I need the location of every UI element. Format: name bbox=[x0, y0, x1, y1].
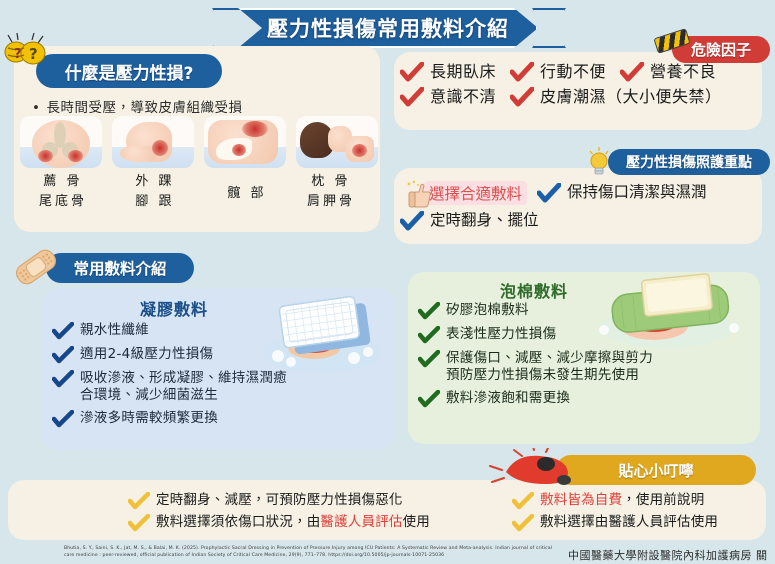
gel-item: 吸收滲液、形成凝膠、維持濕潤癒 合環境、減少細菌滋生 bbox=[52, 370, 342, 404]
thumbnail-hip bbox=[204, 116, 286, 168]
foam-item-label: 矽膠泡棉敷料 bbox=[446, 302, 529, 319]
gel-dressing-list: 親水性纖維 適用2-4級壓力性損傷 吸收滲液、形成凝膠、維持濕潤癒 合環境、減少… bbox=[52, 322, 342, 434]
check-icon bbox=[400, 211, 424, 231]
check-icon bbox=[52, 410, 74, 428]
pressure-site-thumbnails bbox=[20, 116, 378, 168]
thumbnail-occiput-scapula bbox=[296, 116, 378, 168]
site-label-2: 髖 部 bbox=[204, 184, 290, 204]
care-item: 保持傷口清潔與濕潤 bbox=[537, 183, 707, 203]
check-icon bbox=[418, 326, 440, 344]
page-title: 壓力性損傷常用敷料介紹 bbox=[238, 8, 538, 48]
check-icon bbox=[52, 370, 74, 388]
site-label-1-line2: 腳 跟 bbox=[112, 192, 198, 212]
foam-item: 表淺性壓力性損傷 bbox=[418, 326, 718, 344]
dressings-heading-text: 常用敷料介紹 bbox=[73, 257, 166, 279]
gel-item: 滲液多時需較頻繁更換 bbox=[52, 410, 342, 428]
thumbnail-sacrum bbox=[20, 116, 102, 168]
foam-item: 保護傷口、減壓、減少摩擦與剪力 預防壓力性損傷未發生期先使用 bbox=[418, 350, 718, 384]
lightbulb-icon bbox=[586, 146, 612, 178]
tip-item-label: 敷料選擇由醫護人員評估使用 bbox=[540, 514, 718, 531]
tip-item-label: 敷料選擇須依傷口狀況，由醫護人員評估使用 bbox=[156, 514, 430, 531]
check-icon bbox=[510, 87, 534, 107]
page-title-text: 壓力性損傷常用敷料介紹 bbox=[267, 13, 509, 43]
risk-item-label: 皮膚潮濕（大小便失禁） bbox=[540, 87, 722, 107]
care-row: 選擇合適敷料 保持傷口清潔與濕潤 bbox=[400, 181, 764, 205]
risk-item-label: 行動不便 bbox=[540, 62, 606, 82]
tip-text-pre: 敷料選擇須依傷口狀況，由 bbox=[156, 514, 320, 530]
care-item-label: 保持傷口清潔與濕潤 bbox=[567, 183, 707, 202]
site-label-2-line1: 髖 部 bbox=[204, 184, 290, 204]
risk-item: 長期臥床 bbox=[400, 62, 496, 82]
site-label-3-line1: 枕 骨 bbox=[288, 172, 374, 192]
tip-item: 敷料選擇由醫護人員評估使用 bbox=[512, 514, 768, 532]
site-label-1-line1: 外 踝 bbox=[112, 172, 198, 192]
check-icon bbox=[418, 390, 440, 408]
tip-item: 敷料選擇須依傷口狀況，由醫護人員評估使用 bbox=[128, 514, 508, 532]
check-icon bbox=[620, 62, 644, 82]
check-icon bbox=[400, 87, 424, 107]
site-label-3-line2: 肩胛骨 bbox=[288, 192, 374, 212]
gel-item-label: 親水性纖維 bbox=[80, 322, 149, 339]
title-banner-wing-left bbox=[212, 8, 246, 48]
tips-heading-text: 貼心小叮嚀 bbox=[618, 460, 693, 481]
tip-item: 敷料皆為自費，使用前說明 bbox=[512, 492, 768, 510]
care-points-list: 選擇合適敷料 保持傷口清潔與濕潤 定時翻身、擺位 bbox=[400, 181, 764, 231]
foam-item-label: 敷料滲液飽和需更換 bbox=[446, 390, 570, 407]
tip-text-highlight: 敷料皆為自費 bbox=[540, 492, 622, 508]
risk-factors-list: 長期臥床 行動不便 營養不良 意識不清 皮膚潮濕（大小便失禁） bbox=[400, 62, 762, 112]
care-highlight-chip: 選擇合適敷料 bbox=[424, 181, 527, 205]
check-icon bbox=[537, 183, 561, 203]
tip-item-label: 敷料皆為自費，使用前說明 bbox=[540, 492, 704, 509]
site-label-0: 薦 骨 尾底骨 bbox=[20, 172, 106, 211]
tip-item-label: 定時翻身、減壓，可預防壓力性損傷惡化 bbox=[156, 492, 403, 509]
risk-item: 營養不良 bbox=[620, 62, 716, 82]
risk-item-label: 意識不清 bbox=[430, 87, 496, 107]
site-label-3: 枕 骨 肩胛骨 bbox=[288, 172, 374, 211]
svg-text:?: ? bbox=[14, 47, 22, 62]
site-label-1: 外 踝 腳 跟 bbox=[112, 172, 198, 211]
gel-item-label: 滲液多時需較頻繁更換 bbox=[80, 410, 218, 427]
dressings-heading: 常用敷料介紹 bbox=[46, 253, 194, 283]
site-label-0-line1: 薦 骨 bbox=[20, 172, 106, 192]
bee-question-icon: ? ? bbox=[2, 32, 48, 72]
foam-item-label: 保護傷口、減壓、減少摩擦與剪力 預防壓力性損傷未發生期先使用 bbox=[446, 350, 653, 384]
check-icon bbox=[418, 302, 440, 320]
risk-factors-heading-text: 危險因子 bbox=[691, 39, 751, 60]
check-icon bbox=[512, 492, 534, 510]
what-is-bullet: 長時間受壓，導致皮膚組織受損 bbox=[32, 96, 242, 116]
care-item-label: 定時翻身、擺位 bbox=[430, 211, 539, 230]
gel-dressing-title: 凝膠敷料 bbox=[140, 296, 208, 320]
site-label-0-line2: 尾底骨 bbox=[20, 192, 106, 212]
risk-item-label: 長期臥床 bbox=[430, 62, 496, 82]
tip-text-pre: 敷料選擇由醫護人員評估使用 bbox=[540, 514, 718, 530]
care-points-heading-text: 壓力性損傷照護重點 bbox=[626, 152, 752, 172]
tip-text-highlight: 醫護人員評估 bbox=[320, 514, 402, 530]
foam-dressing-title: 泡棉敷料 bbox=[500, 278, 568, 302]
tip-text-post: 使用 bbox=[403, 514, 430, 530]
risk-row: 意識不清 皮膚潮濕（大小便失禁） bbox=[400, 87, 762, 112]
care-item: 定時翻身、擺位 bbox=[400, 211, 764, 231]
risk-row: 長期臥床 行動不便 營養不良 bbox=[400, 62, 762, 87]
foam-item: 敷料滲液飽和需更換 bbox=[418, 390, 718, 408]
check-icon bbox=[128, 514, 150, 532]
citation-text: Bhutia, S. Y., Saini, S. K., Jat, M. S.,… bbox=[64, 546, 554, 560]
tips-list-right: 敷料皆為自費，使用前說明 敷料選擇由醫護人員評估使用 bbox=[512, 492, 768, 536]
risk-item: 行動不便 bbox=[510, 62, 606, 82]
tips-heading: 貼心小叮嚀 bbox=[556, 455, 756, 485]
gel-item-label: 吸收滲液、形成凝膠、維持濕潤癒 合環境、減少細菌滋生 bbox=[80, 370, 287, 404]
care-points-heading: 壓力性損傷照護重點 bbox=[608, 149, 770, 175]
hospital-credit: 中國醫藥大學附設醫院內科加護病房 關心您 bbox=[568, 547, 775, 564]
bandage-icon bbox=[9, 242, 62, 292]
risk-item-label: 營養不良 bbox=[650, 62, 716, 82]
what-is-heading-text: 什麼是壓力性損? bbox=[65, 59, 194, 84]
foam-item: 矽膠泡棉敷料 bbox=[418, 302, 718, 320]
foam-item-label: 表淺性壓力性損傷 bbox=[446, 326, 556, 343]
gel-item-label: 適用2-4級壓力性損傷 bbox=[80, 346, 213, 363]
thumbnail-ankle-heel bbox=[112, 116, 194, 168]
gel-item: 適用2-4級壓力性損傷 bbox=[52, 346, 342, 364]
tip-text-pre: 定時翻身、減壓，可預防壓力性損傷惡化 bbox=[156, 492, 403, 508]
thumbs-up-icon bbox=[406, 180, 432, 208]
megaphone-icon bbox=[488, 448, 580, 488]
check-icon bbox=[400, 62, 424, 82]
tips-list-left: 定時翻身、減壓，可預防壓力性損傷惡化 敷料選擇須依傷口狀況，由醫護人員評估使用 bbox=[128, 492, 508, 536]
what-is-heading: 什麼是壓力性損? bbox=[36, 54, 222, 88]
check-icon bbox=[128, 492, 150, 510]
check-icon bbox=[52, 322, 74, 340]
gel-item: 親水性纖維 bbox=[52, 322, 342, 340]
check-icon bbox=[418, 350, 440, 368]
tip-item: 定時翻身、減壓，可預防壓力性損傷惡化 bbox=[128, 492, 508, 510]
tip-text-post: ，使用前說明 bbox=[622, 492, 704, 508]
check-icon bbox=[512, 514, 534, 532]
risk-item: 皮膚潮濕（大小便失禁） bbox=[510, 87, 722, 107]
check-icon bbox=[52, 346, 74, 364]
foam-dressing-list: 矽膠泡棉敷料 表淺性壓力性損傷 保護傷口、減壓、減少摩擦與剪力 預防壓力性損傷未… bbox=[418, 302, 718, 414]
svg-text:?: ? bbox=[29, 45, 38, 63]
check-icon bbox=[510, 62, 534, 82]
risk-item: 意識不清 bbox=[400, 87, 496, 107]
